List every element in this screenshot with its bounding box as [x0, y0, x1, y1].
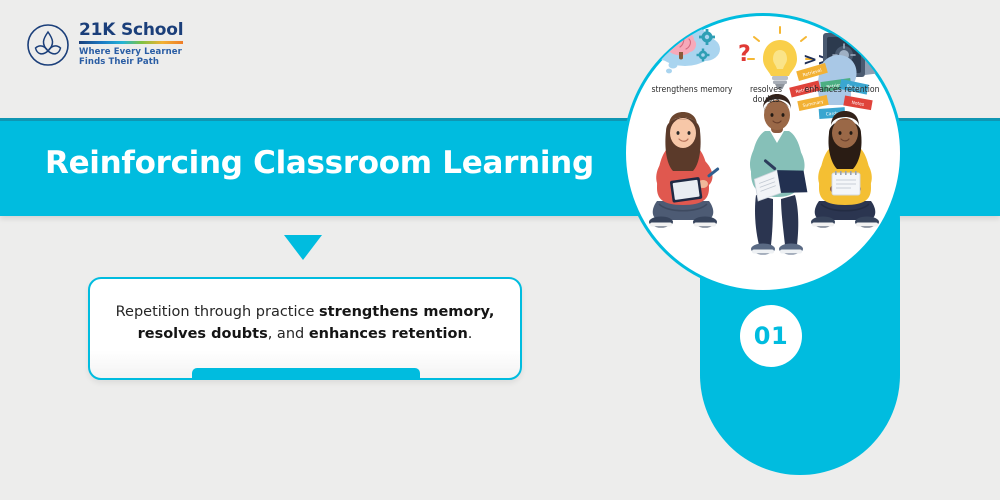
brand-tagline: Where Every Learner Finds Their Path: [79, 47, 183, 68]
card-accent-bar: [192, 368, 420, 378]
brand-logo: 21K School Where Every Learner Finds The…: [26, 22, 183, 68]
slide-canvas: 21K School Where Every Learner Finds The…: [0, 0, 1000, 500]
triangle-down-icon: [284, 235, 322, 260]
brand-tagline-line-2: Finds Their Path: [79, 57, 183, 68]
brand-tagline-line-1: Where Every Learner: [79, 47, 183, 58]
illustration-label-2: enhances retention: [789, 85, 895, 95]
page-title: Reinforcing Classroom Learning: [45, 145, 594, 181]
students-illustration: ?: [623, 13, 903, 293]
brand-gradient-rule: [79, 41, 183, 44]
description-text: Repetition through practice strengthens …: [90, 301, 520, 346]
step-number-badge: 01: [740, 305, 802, 367]
svg-text:?: ?: [738, 42, 751, 67]
brand-text: 21K School Where Every Learner Finds The…: [79, 22, 183, 68]
brand-name: 21K School: [79, 22, 183, 39]
lotus-circle-icon: [26, 23, 70, 67]
description-card: Repetition through practice strengthens …: [88, 277, 522, 380]
illustration-label-1-line-2: doubts: [731, 95, 801, 105]
